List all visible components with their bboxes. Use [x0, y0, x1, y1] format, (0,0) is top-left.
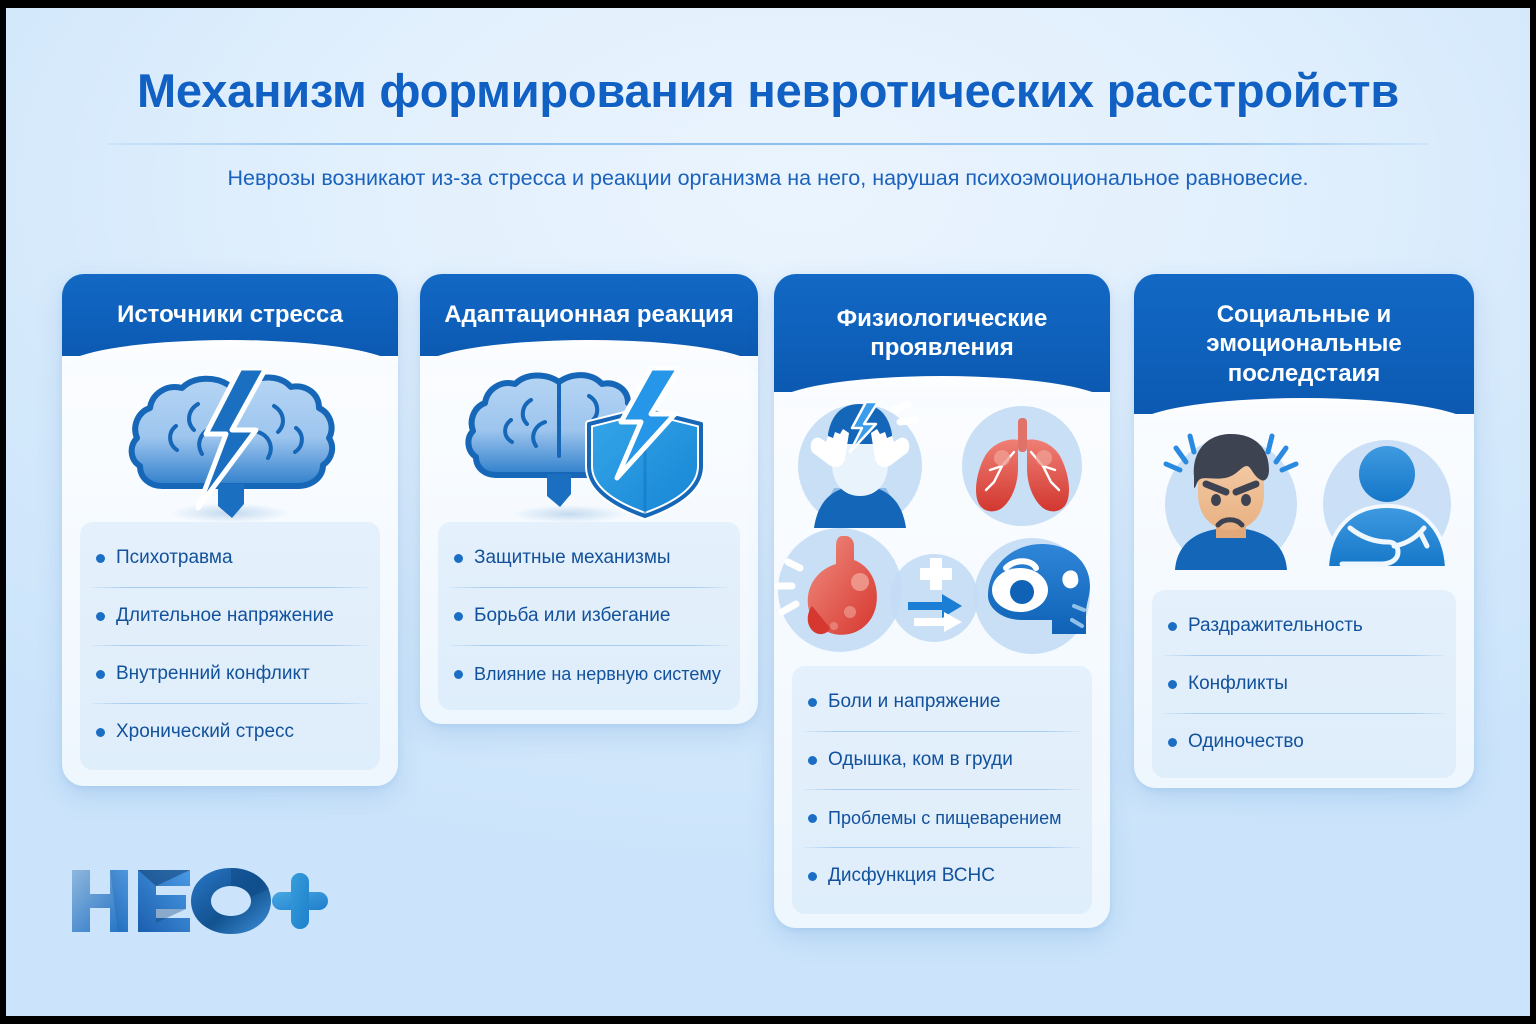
card-title-physiological-manifestations: Физиологические проявления	[788, 304, 1096, 363]
bullet-icon	[1168, 622, 1177, 631]
list-item-label: Психотравма	[116, 547, 233, 569]
bullet-icon	[808, 756, 817, 765]
list-item[interactable]: Влияние на нервную систему	[438, 645, 740, 703]
card-header-social-emotional-consequences: Социальные и эмоциональные последстаия	[1134, 274, 1474, 414]
bullet-icon	[454, 554, 463, 563]
list-item-label: Проблемы с пищеварением	[828, 808, 1061, 829]
title-divider	[108, 143, 1428, 145]
list-item-label: Дисфункция ВСНС	[828, 865, 995, 887]
page-subtitle: Неврозы возникают из-за стресса и реакци…	[6, 166, 1530, 191]
bullet-icon	[96, 554, 105, 563]
list-item[interactable]: Психотравма	[80, 529, 380, 587]
brain-lightning-icon	[62, 368, 398, 528]
list-item-label: Внутренний конфликт	[116, 663, 310, 685]
list-item[interactable]: Длительное напряжение	[80, 587, 380, 645]
list-item-label: Защитные механизмы	[474, 547, 671, 569]
bullet-icon	[1168, 738, 1177, 747]
list-sources-of-stress: Психотравма Длительное напряжение Внутре…	[80, 522, 380, 770]
card-title-social-emotional-consequences: Социальные и эмоциональные последстаия	[1148, 300, 1460, 388]
bullet-icon	[1168, 680, 1177, 689]
brain-shield-lightning-icon	[420, 366, 758, 526]
list-item[interactable]: Дисфункция ВСНС	[792, 847, 1092, 905]
list-item[interactable]: Борьба или избегание	[438, 587, 740, 645]
list-item[interactable]: Проблемы с пищеварением	[792, 789, 1092, 847]
brand-logo[interactable]: НЕО+	[68, 860, 328, 938]
list-social-emotional-consequences: Раздражительность Конфликты Одиночество	[1152, 590, 1456, 778]
page-title: Механизм формирования невротических расс…	[6, 63, 1530, 118]
list-item[interactable]: Раздражительность	[1152, 597, 1456, 655]
card-sources-of-stress[interactable]: Источники стресса	[62, 274, 398, 786]
list-item-label: Влияние на нервную систему	[474, 664, 721, 685]
bullet-icon	[96, 728, 105, 737]
list-item[interactable]: Внутренний конфликт	[80, 645, 380, 703]
card-title-sources-of-stress: Источники стресса	[117, 300, 343, 329]
brain-lightning-svg	[62, 368, 398, 528]
list-item-label: Одышка, ком в груди	[828, 749, 1013, 771]
bullet-icon	[454, 670, 463, 679]
card-social-emotional-consequences[interactable]: Социальные и эмоциональные последстаия	[1134, 274, 1474, 788]
card-physiological-manifestations[interactable]: Физиологические проявления	[774, 274, 1110, 928]
bullet-icon	[96, 612, 105, 621]
bullet-icon	[808, 872, 817, 881]
list-item[interactable]: Боли и напряжение	[792, 673, 1092, 731]
bullet-icon	[808, 698, 817, 707]
list-item-label: Конфликты	[1188, 673, 1288, 695]
people-emotions-svg	[1134, 422, 1474, 582]
list-adaptive-reaction: Защитные механизмы Борьба или избегание …	[438, 522, 740, 710]
brain-shield-svg	[420, 366, 758, 526]
list-item[interactable]: Хронический стресс	[80, 703, 380, 761]
bullet-icon	[96, 670, 105, 679]
card-adaptive-reaction[interactable]: Адаптационная реакция	[420, 274, 758, 724]
list-item[interactable]: Конфликты	[1152, 655, 1456, 713]
card-title-adaptive-reaction: Адаптационная реакция	[444, 300, 734, 329]
list-item-label: Одиночество	[1188, 731, 1304, 753]
list-item-label: Длительное напряжение	[116, 605, 334, 627]
infographic-canvas: Механизм формирования невротических расс…	[6, 8, 1530, 1016]
list-item-label: Хронический стресс	[116, 721, 294, 743]
list-item[interactable]: Одышка, ком в груди	[792, 731, 1092, 789]
people-emotions-icons	[1134, 422, 1474, 582]
physiology-icons-grid	[774, 400, 1110, 656]
list-item-label: Борьба или избегание	[474, 605, 671, 627]
bullet-icon	[808, 814, 817, 823]
list-item-label: Боли и напряжение	[828, 691, 1000, 713]
card-header-physiological-manifestations: Физиологические проявления	[774, 274, 1110, 392]
screenshot-stage: Механизм формирования невротических расс…	[0, 0, 1536, 1024]
bullet-icon	[454, 612, 463, 621]
list-physiological-manifestations: Боли и напряжение Одышка, ком в груди Пр…	[792, 666, 1092, 914]
list-item[interactable]: Защитные механизмы	[438, 529, 740, 587]
list-item-label: Раздражительность	[1188, 615, 1363, 637]
brand-logo-svg	[68, 860, 328, 938]
list-item[interactable]: Одиночество	[1152, 713, 1456, 771]
physiology-icons-svg	[774, 400, 1110, 656]
